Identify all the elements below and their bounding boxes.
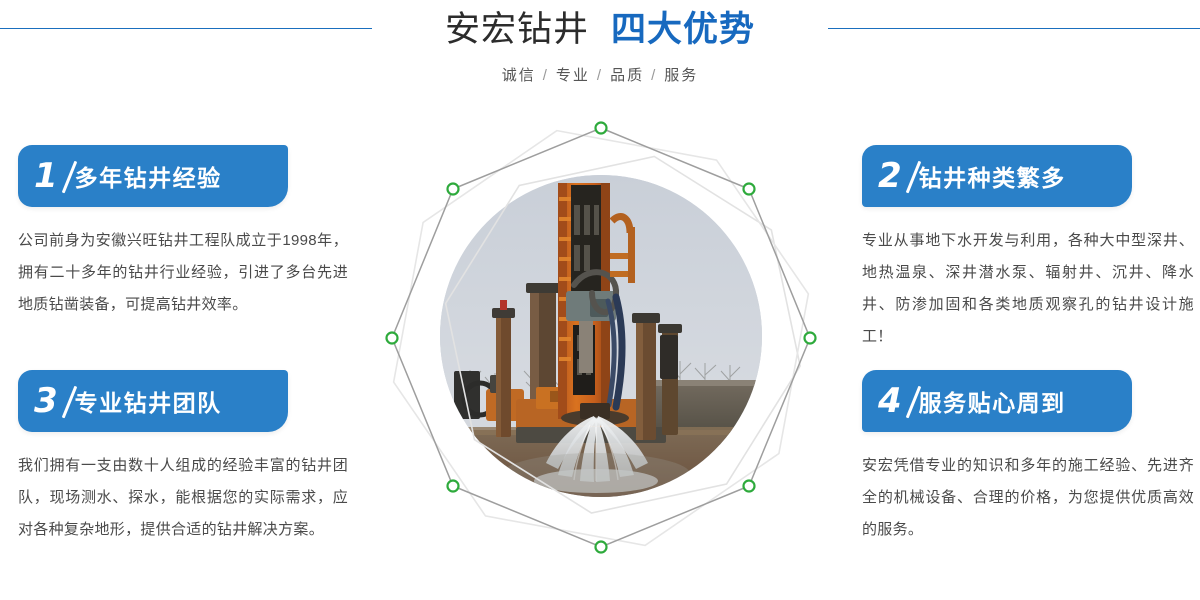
feature-card-2-body: 专业从事地下水开发与利用，各种大中型深井、地热温泉、深井潜水泵、辐射井、沉井、降… bbox=[862, 225, 1194, 353]
number-1-icon: 1 bbox=[34, 159, 71, 193]
ring-node-right bbox=[805, 333, 816, 344]
number-3-icon: 3 bbox=[34, 384, 71, 418]
feature-card-4-badge: 4 服务贴心周到 bbox=[862, 370, 1132, 432]
page-title-highlight: 四大优势 bbox=[611, 10, 755, 49]
subtitle-separator-2: / bbox=[644, 67, 664, 84]
page-root: 安宏钻井四大优势 诚信/专业/品质/服务 1 多年钻井经验 公司前身为安徽兴旺钻… bbox=[0, 0, 1200, 600]
ring-node-left bbox=[387, 333, 398, 344]
page-title: 安宏钻井四大优势 bbox=[0, 8, 1200, 52]
feature-card-3[interactable]: 3 专业钻井团队 我们拥有一支由数十人组成的经验丰富的钻井团队，现场测水、探水，… bbox=[18, 370, 363, 546]
subtitle-item-3: 服务 bbox=[664, 67, 698, 84]
feature-card-4-body: 安宏凭借专业的知识和多年的施工经验、先进齐全的机械设备、合理的价格，为您提供优质… bbox=[862, 450, 1194, 546]
page-header: 安宏钻井四大优势 诚信/专业/品质/服务 bbox=[0, 0, 1200, 110]
ring-node-bottom bbox=[596, 542, 607, 553]
feature-card-2-badge: 2 钻井种类繁多 bbox=[862, 145, 1132, 207]
feature-card-1-title: 多年钻井经验 bbox=[75, 159, 222, 193]
ring-node-top-right bbox=[744, 184, 755, 195]
feature-card-1-body: 公司前身为安徽兴旺钻井工程队成立于1998年，拥有二十多年的钻井行业经验，引进了… bbox=[18, 225, 348, 321]
page-title-brand: 安宏钻井 bbox=[445, 10, 589, 49]
feature-card-2-title: 钻井种类繁多 bbox=[919, 159, 1066, 193]
feature-card-2[interactable]: 2 钻井种类繁多 专业从事地下水开发与利用，各种大中型深井、地热温泉、深井潜水泵… bbox=[862, 145, 1200, 353]
ring-node-bottom-right bbox=[744, 481, 755, 492]
subtitle-separator-0: / bbox=[536, 67, 556, 84]
ring-node-top bbox=[596, 123, 607, 134]
feature-card-3-body: 我们拥有一支由数十人组成的经验丰富的钻井团队，现场测水、探水，能根据您的实际需求… bbox=[18, 450, 348, 546]
octagon-ring-light-2 bbox=[375, 112, 827, 564]
subtitle-item-2: 品质 bbox=[610, 67, 644, 84]
number-4-icon: 4 bbox=[878, 384, 915, 418]
feature-card-1-badge: 1 多年钻井经验 bbox=[18, 145, 288, 207]
feature-card-1[interactable]: 1 多年钻井经验 公司前身为安徽兴旺钻井工程队成立于1998年，拥有二十多年的钻… bbox=[18, 145, 363, 321]
number-2-icon: 2 bbox=[878, 159, 915, 193]
feature-card-3-title: 专业钻井团队 bbox=[75, 384, 222, 418]
page-subtitle: 诚信/专业/品质/服务 bbox=[0, 64, 1200, 85]
center-graphic bbox=[375, 112, 827, 564]
subtitle-item-0: 诚信 bbox=[502, 67, 536, 84]
feature-card-3-badge: 3 专业钻井团队 bbox=[18, 370, 288, 432]
octagon-ring-decoration bbox=[375, 112, 827, 564]
feature-card-4[interactable]: 4 服务贴心周到 安宏凭借专业的知识和多年的施工经验、先进齐全的机械设备、合理的… bbox=[862, 370, 1200, 546]
octagon-ring-light bbox=[414, 125, 827, 544]
ring-node-bottom-left bbox=[448, 481, 459, 492]
feature-card-4-title: 服务贴心周到 bbox=[919, 384, 1066, 418]
ring-node-top-left bbox=[448, 184, 459, 195]
subtitle-item-1: 专业 bbox=[556, 67, 590, 84]
subtitle-separator-1: / bbox=[590, 67, 610, 84]
